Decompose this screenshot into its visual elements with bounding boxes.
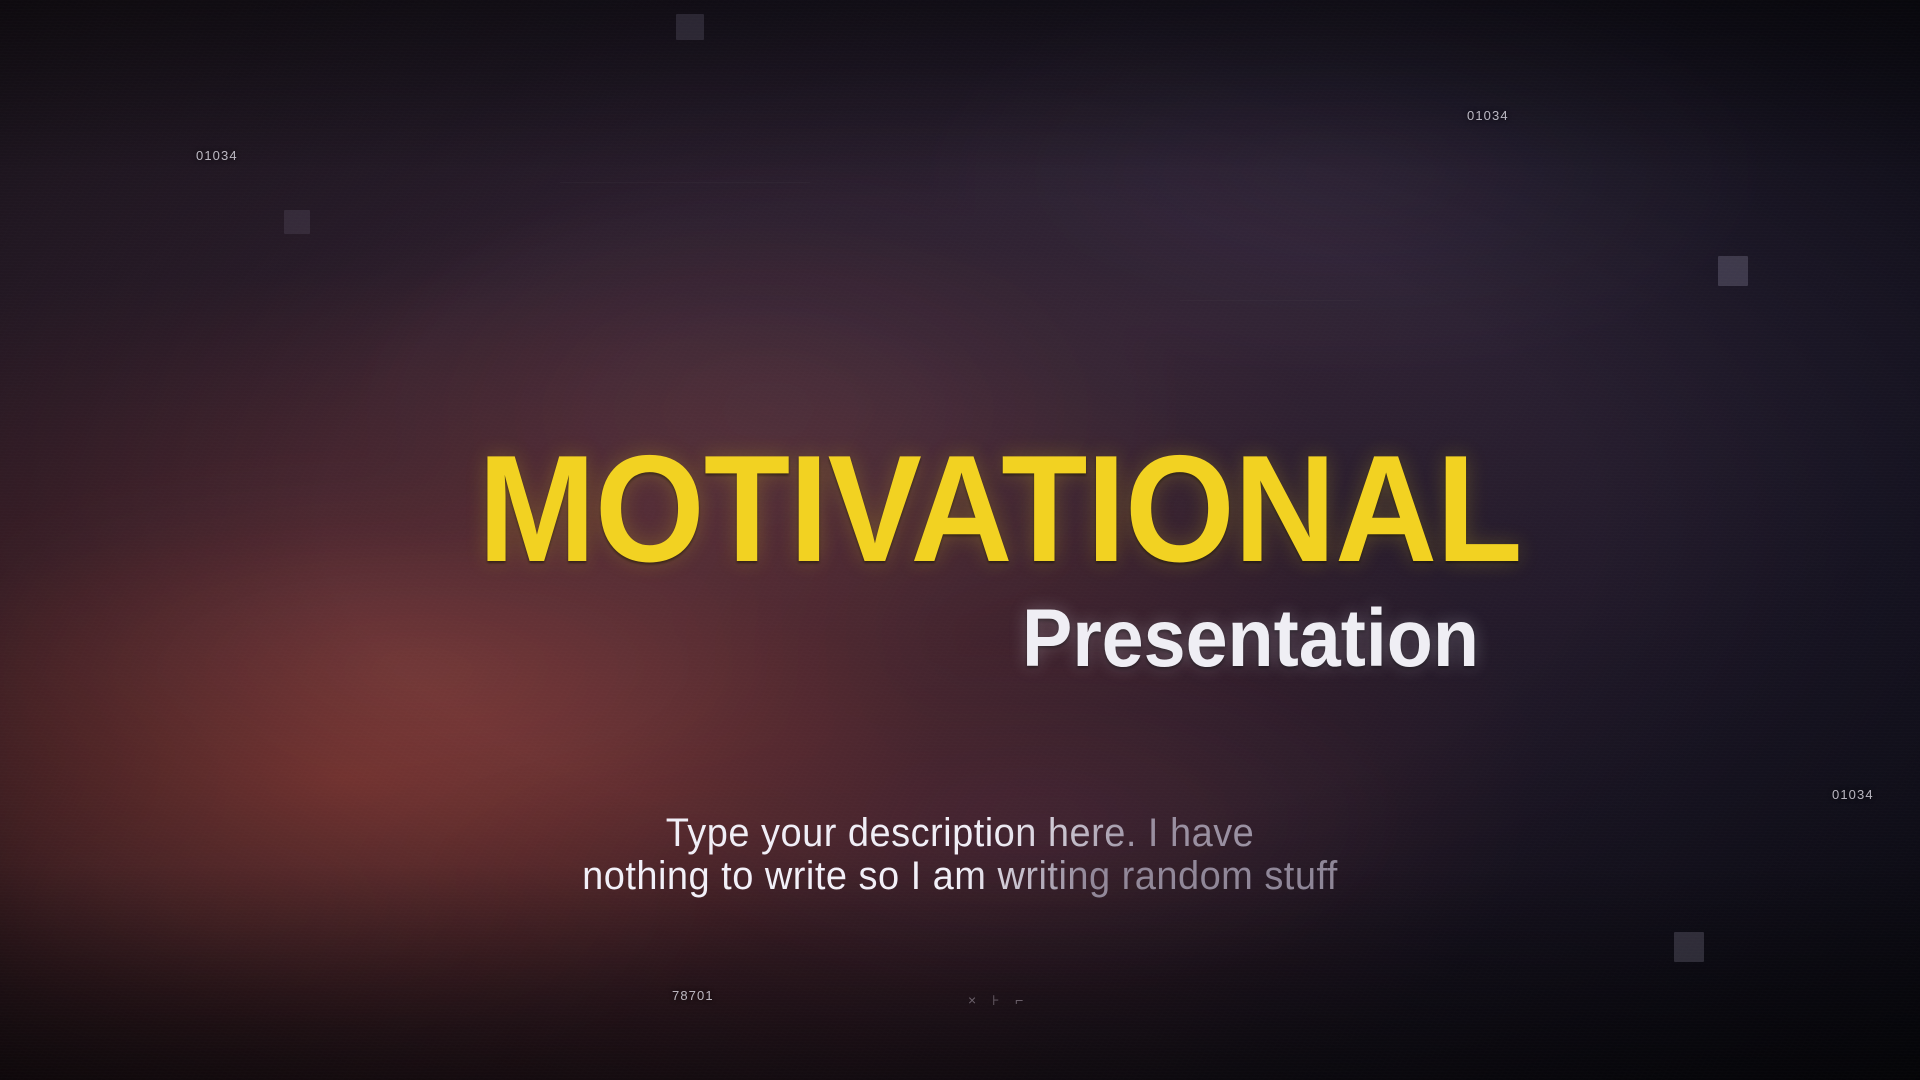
film-grain-overlay <box>0 0 1920 1080</box>
code-label-top-right: 01034 <box>1467 108 1509 123</box>
code-label-top-left: 01034 <box>196 148 238 163</box>
code-label-mid-right: 01034 <box>1832 787 1874 802</box>
description-line-1: Type your description here. I have <box>48 812 1872 855</box>
presentation-slide: 01034 01034 01034 78701 MOTIVATIONAL Pre… <box>0 0 1920 1080</box>
glitch-square-lower-right <box>1674 932 1704 962</box>
bottom-center-glitch-marks: × ⊦ ⌐ <box>968 992 1029 1009</box>
glitch-square-upper-left <box>284 210 310 234</box>
glitch-square-upper-right <box>1718 256 1748 286</box>
glitch-square-top <box>676 14 704 40</box>
glitch-hairline-lower <box>1180 300 1360 301</box>
description-line-2: nothing to write so I am writing random … <box>48 855 1872 898</box>
code-label-bottom-left: 78701 <box>672 988 714 1003</box>
description-text: Type your description here. I have nothi… <box>48 812 1872 898</box>
glitch-hairline-upper <box>560 182 810 183</box>
